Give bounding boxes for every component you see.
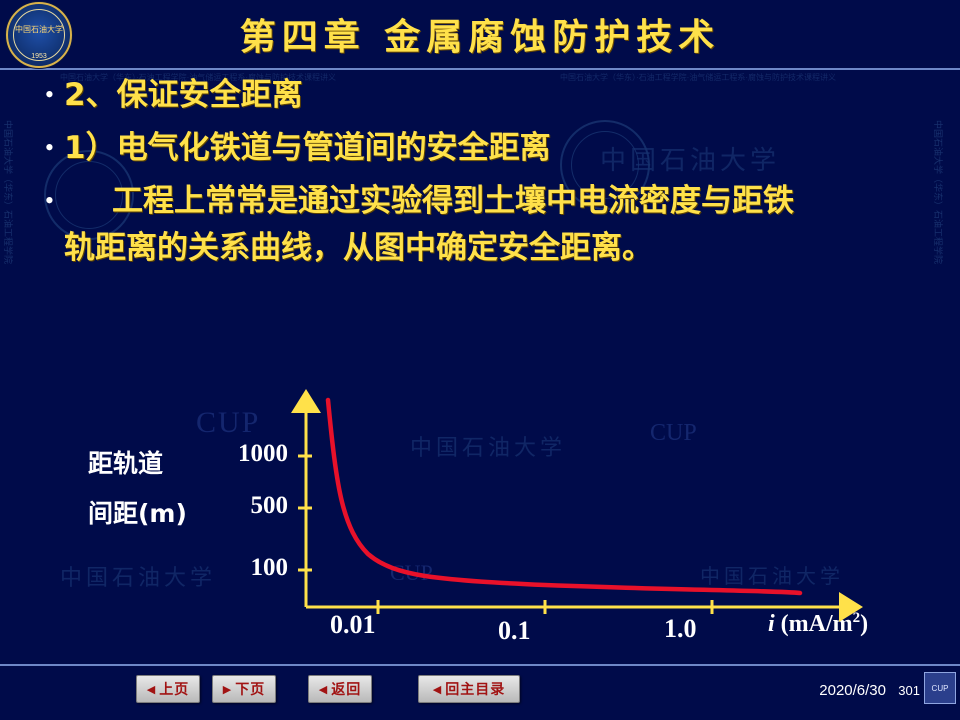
main-menu-button[interactable]: ◀ 回主目录	[418, 675, 520, 703]
slide-footer: ◀ 上页 ▶ 下页 ◀ 返回 ◀ 回主目录 2020/6/30 301 CUP	[0, 664, 960, 720]
main-menu-label: 回主目录	[445, 679, 505, 699]
bullet-text-1: 2、保证安全距离	[64, 72, 303, 119]
return-button[interactable]: ◀ 返回	[308, 675, 372, 703]
current-density-curve	[328, 400, 800, 593]
page-title: 第四章 金属腐蚀防护技术	[0, 8, 960, 60]
left-arrow-icon: ◀	[147, 683, 156, 696]
slide-body: • 2、保证安全距离 • 1）电气化铁道与管道间的安全距离 • 工程上常常是通过…	[0, 72, 960, 278]
return-label: 返回	[331, 679, 361, 699]
next-page-button[interactable]: ▶ 下页	[212, 675, 276, 703]
bullet-marker: •	[0, 178, 64, 224]
bullet-text-3: 工程上常常是通过实验得到土壤中电流密度与距铁轨距离的关系曲线，从图中确定安全距离…	[64, 178, 824, 272]
home-arrow-icon: ◀	[433, 683, 442, 696]
bullet-marker: •	[0, 125, 64, 171]
current-density-vs-distance-chart: 距轨道 间距(m) 1000 500 100 0.01 0.1 1.0 i (m…	[0, 382, 960, 662]
bullet-marker: •	[0, 72, 64, 118]
bullet-item-1: • 2、保证安全距离	[0, 72, 960, 119]
bullet-text-2: 1）电气化铁道与管道间的安全距离	[64, 125, 551, 172]
bullet-item-2: • 1）电气化铁道与管道间的安全距离	[0, 125, 960, 172]
bullet-item-3: • 工程上常常是通过实验得到土壤中电流密度与距铁轨距离的关系曲线，从图中确定安全…	[0, 178, 960, 272]
slide-header: 中国石油大学 1953 第四章 金属腐蚀防护技术	[0, 0, 960, 70]
footer-logo-icon: CUP	[924, 672, 956, 704]
right-arrow-icon: ▶	[223, 683, 232, 696]
prev-page-label: 上页	[159, 679, 189, 699]
next-page-label: 下页	[235, 679, 265, 699]
chart-svg	[0, 382, 960, 662]
back-arrow-icon: ◀	[319, 683, 328, 696]
footer-page-number: 301	[898, 683, 920, 698]
prev-page-button[interactable]: ◀ 上页	[136, 675, 200, 703]
footer-date: 2020/6/30	[819, 682, 886, 699]
